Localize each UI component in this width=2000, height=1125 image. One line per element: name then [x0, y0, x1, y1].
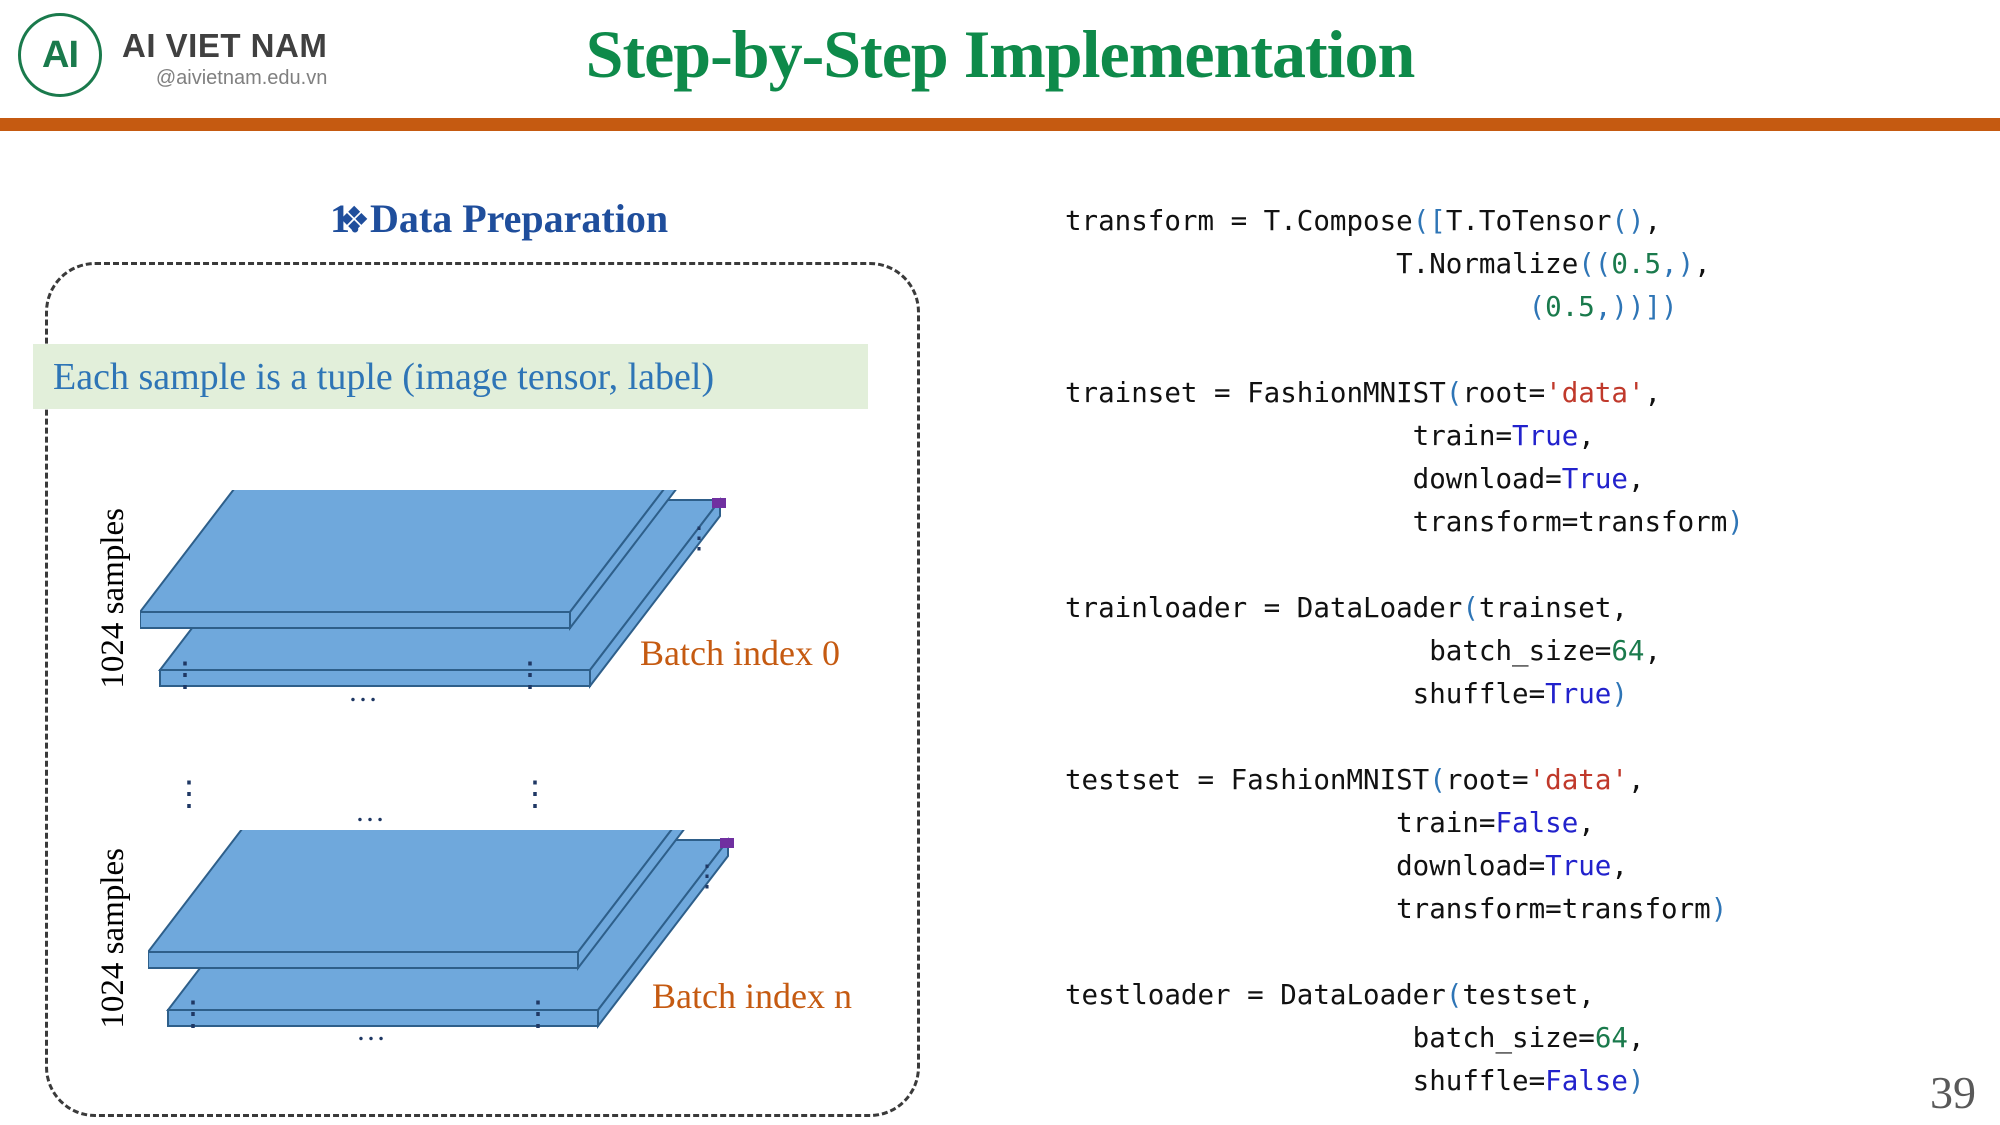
code-line: shuffle=True)	[1065, 673, 1995, 716]
code-line: shuffle=False)	[1065, 1060, 1995, 1103]
code-token: train=	[1065, 420, 1512, 452]
code-line: transform = T.Compose([T.ToTensor(),	[1065, 200, 1995, 243]
batch-stack-top	[140, 490, 760, 735]
code-token: transform=transform	[1065, 893, 1711, 925]
between-stacks-dots-center: …	[355, 795, 385, 829]
dots-glyph: ⋮	[684, 530, 714, 547]
slide-header: AI AI VIET NAM @aivietnam.edu.vn Step-by…	[0, 0, 2000, 123]
page-number: 39	[1930, 1066, 1976, 1119]
code-token: 0.5	[1611, 248, 1661, 280]
code-line: T.Normalize((0.5,),	[1065, 243, 1995, 286]
stack-dots-top-left: ⋮	[168, 666, 202, 685]
code-token: batch_size=	[1065, 635, 1611, 667]
code-line: train=False,	[1065, 802, 1995, 845]
code-token: ,	[1628, 764, 1645, 796]
code-token: )	[1628, 1065, 1645, 1097]
code-token: 0.5	[1545, 291, 1595, 323]
code-token: 'data'	[1529, 764, 1628, 796]
code-token: (	[1446, 377, 1463, 409]
code-token: download=	[1065, 463, 1562, 495]
code-token: transform = T.Compose	[1065, 205, 1413, 237]
code-line: trainloader = DataLoader(trainset,	[1065, 587, 1995, 630]
section-heading: 1. Data Preparation	[330, 195, 668, 242]
code-token: trainset = FashionMNIST	[1065, 377, 1446, 409]
code-line	[1065, 329, 1995, 372]
code-token	[1065, 291, 1529, 323]
code-token: download=	[1065, 850, 1545, 882]
code-token: testloader = DataLoader	[1065, 979, 1446, 1011]
code-token: ,))])	[1595, 291, 1678, 323]
code-token: )	[1611, 678, 1628, 710]
dots-glyph: …	[348, 675, 378, 709]
code-line: (0.5,))])	[1065, 286, 1995, 329]
code-token: (	[1429, 764, 1446, 796]
slab-gap-dots-bottom: ⋮	[692, 868, 722, 885]
dots-glyph: …	[355, 795, 385, 828]
code-line: testset = FashionMNIST(root='data',	[1065, 759, 1995, 802]
code-token: ,	[1645, 205, 1662, 237]
stack-dots-bottom-left: ⋮	[176, 1005, 210, 1024]
code-line: transform=transform)	[1065, 501, 1995, 544]
code-token: False	[1495, 807, 1578, 839]
code-token: train=	[1065, 807, 1495, 839]
stack-dots-top-center: …	[348, 675, 378, 709]
between-stacks-dots-right: ⋮	[518, 785, 552, 805]
code-token: True	[1562, 463, 1628, 495]
code-token: True	[1545, 678, 1611, 710]
code-block: transform = T.Compose([T.ToTensor(), T.N…	[1065, 200, 1995, 1103]
code-token: trainset,	[1479, 592, 1628, 624]
code-token: testset = FashionMNIST	[1065, 764, 1429, 796]
code-token: ,	[1694, 248, 1711, 280]
batch-stack-bottom	[148, 830, 768, 1085]
code-token: (	[1529, 291, 1546, 323]
dots-glyph: ⋮	[692, 868, 722, 885]
stack-dots-bottom-center: …	[356, 1014, 386, 1048]
code-token: 64	[1595, 1022, 1628, 1054]
code-line: download=True,	[1065, 845, 1995, 888]
code-line: batch_size=64,	[1065, 630, 1995, 673]
code-line: trainset = FashionMNIST(root='data',	[1065, 372, 1995, 415]
axis-label-samples-top: 1024 samples	[95, 508, 132, 689]
code-token: ,	[1645, 377, 1662, 409]
code-token: batch_size=	[1065, 1022, 1595, 1054]
code-token: 'data'	[1545, 377, 1644, 409]
code-token: )	[1727, 506, 1744, 538]
code-token: ((	[1578, 248, 1611, 280]
code-token: root=	[1446, 764, 1529, 796]
stack-dots-top-right: ⋮	[513, 666, 547, 685]
code-line: batch_size=64,	[1065, 1017, 1995, 1060]
code-token: ,	[1611, 850, 1628, 882]
batch-label-0: Batch index 0	[640, 632, 840, 674]
stack-dots-bottom-right: ⋮	[521, 1005, 555, 1024]
code-line: train=True,	[1065, 415, 1995, 458]
code-token: shuffle=	[1065, 1065, 1545, 1097]
code-token: (	[1446, 979, 1463, 1011]
between-stacks-dots-left: ⋮	[172, 785, 206, 805]
code-token: True	[1512, 420, 1578, 452]
code-token: T.ToTensor	[1446, 205, 1612, 237]
sample-note-text: Each sample is a tuple (image tensor, la…	[33, 355, 714, 399]
code-token: testset,	[1462, 979, 1594, 1011]
code-token: (	[1462, 592, 1479, 624]
dots-glyph: ⋮	[521, 1005, 555, 1024]
code-token: ,)	[1661, 248, 1694, 280]
code-line	[1065, 931, 1995, 974]
code-token: ,	[1628, 463, 1645, 495]
code-token: ,	[1645, 635, 1662, 667]
code-line: testloader = DataLoader(testset,	[1065, 974, 1995, 1017]
code-line	[1065, 544, 1995, 587]
dots-glyph: ⋮	[518, 776, 552, 813]
code-token: ([	[1413, 205, 1446, 237]
code-line: transform=transform)	[1065, 888, 1995, 931]
code-line: download=True,	[1065, 458, 1995, 501]
code-token: trainloader = DataLoader	[1065, 592, 1462, 624]
code-token: root=	[1462, 377, 1545, 409]
code-token: ,	[1578, 807, 1595, 839]
dots-glyph: ⋮	[513, 666, 547, 685]
header-divider	[0, 118, 2000, 131]
code-token: shuffle=	[1065, 678, 1545, 710]
page-title: Step-by-Step Implementation	[0, 15, 2000, 94]
code-token: transform=transform	[1065, 506, 1727, 538]
code-token: ()	[1611, 205, 1644, 237]
dots-glyph: ⋮	[172, 776, 206, 813]
axis-label-samples-bottom: 1024 samples	[95, 848, 132, 1029]
dots-glyph: ⋮	[168, 666, 202, 685]
slab-gap-dots-top: ⋮	[684, 530, 714, 547]
dots-glyph: ⋮	[176, 1005, 210, 1024]
code-token: False	[1545, 1065, 1628, 1097]
code-token: 64	[1611, 635, 1644, 667]
sample-note-box: Each sample is a tuple (image tensor, la…	[33, 344, 868, 409]
dots-glyph: …	[356, 1014, 386, 1048]
code-token: )	[1711, 893, 1728, 925]
code-token: ,	[1628, 1022, 1645, 1054]
code-token: ,	[1578, 420, 1595, 452]
code-line	[1065, 716, 1995, 759]
code-token: T.Normalize	[1065, 248, 1578, 280]
code-token: True	[1545, 850, 1611, 882]
batch-label-n: Batch index n	[652, 975, 852, 1017]
